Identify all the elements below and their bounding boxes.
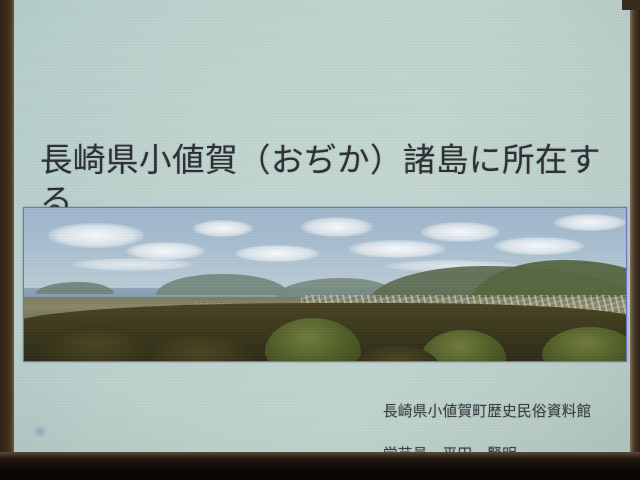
- cloud-icon: [301, 217, 373, 237]
- cloud-icon: [126, 242, 204, 260]
- credit-author: 学芸員 平田 賢明: [383, 444, 631, 453]
- cloud-icon: [421, 222, 499, 242]
- bezel-bottom: [0, 452, 640, 480]
- cloud-icon: [554, 214, 626, 231]
- cloud-icon: [72, 258, 192, 270]
- cloud-icon: [235, 245, 319, 262]
- bezel-right: [630, 0, 640, 480]
- projected-slide-photo: 長崎県小値賀（おぢか）諸島に所在する 六島（時間励行の島）について: [0, 0, 640, 480]
- slide-photograph-frame: [23, 207, 627, 362]
- landscape-photograph: [24, 208, 626, 361]
- cloud-icon: [48, 223, 144, 247]
- presentation-slide: 長崎県小値賀（おぢか）諸島に所在する 六島（時間励行の島）について: [13, 0, 631, 452]
- bezel-left: [0, 0, 14, 480]
- credit-organization: 長崎県小値賀町歴史民俗資料館: [383, 401, 631, 423]
- cloud-icon: [193, 220, 253, 237]
- slide-credit: 長崎県小値賀町歴史民俗資料館 学芸員 平田 賢明: [383, 379, 631, 452]
- projector-flare: [35, 427, 45, 436]
